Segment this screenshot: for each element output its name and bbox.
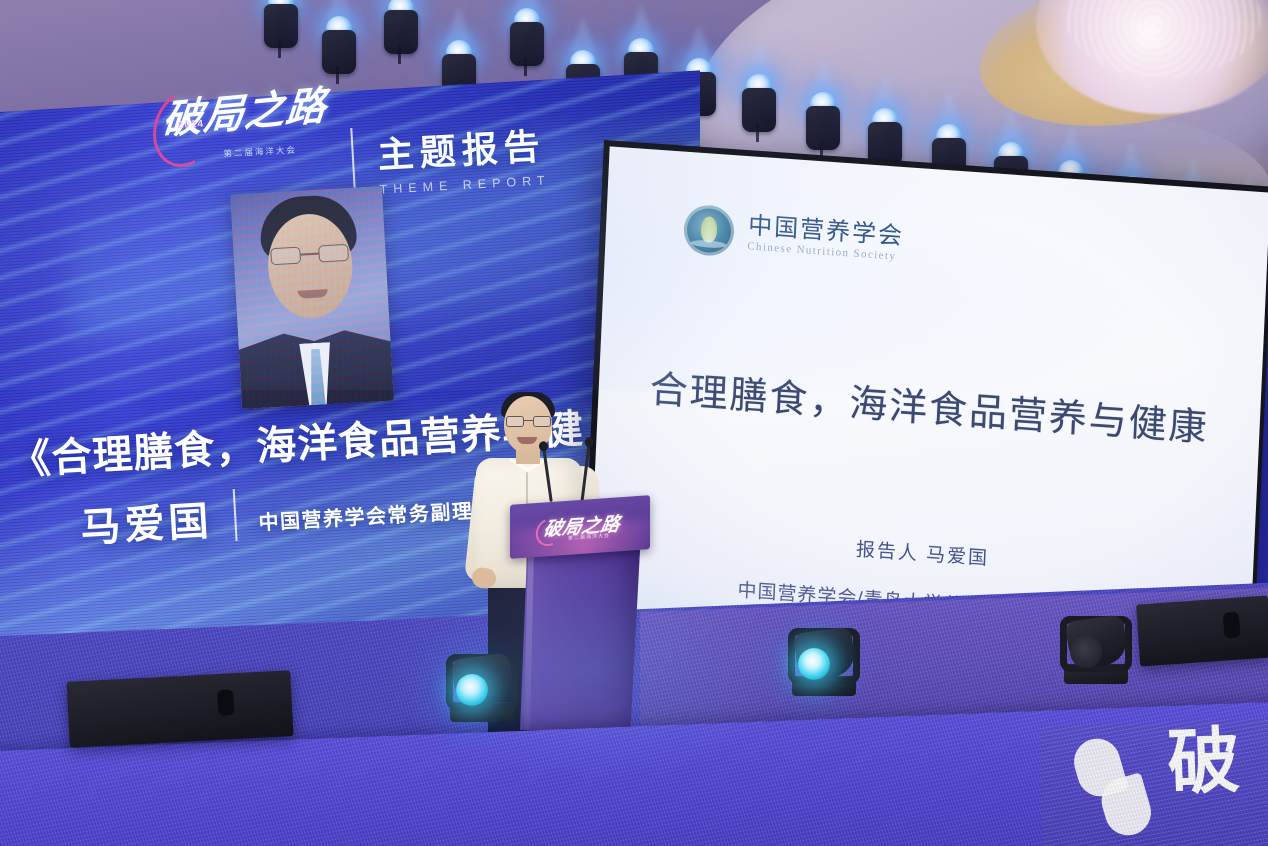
logo-divider [350, 128, 355, 190]
wave-logo-icon [1067, 736, 1163, 839]
moving-head-light [258, 0, 304, 54]
backdrop-speaker-divider [233, 489, 238, 541]
podium-event-logo: 破局之路 第二届海洋大会 [536, 508, 632, 549]
stage-monitor-speaker-left [66, 670, 293, 748]
floor-moving-head-light [444, 638, 520, 722]
nutrition-society-emblem-icon [683, 204, 735, 257]
podium-front-panel: 破局之路 第二届海洋大会 [510, 495, 650, 559]
floor-moving-head-light [786, 612, 862, 696]
moving-head-light [504, 8, 550, 72]
slide-org-name: 中国营养学会 Chinese Nutrition Society [747, 213, 904, 264]
podium-logo-subtitle: 第二届海洋大会 [568, 532, 610, 542]
section-heading: 主题报告 THEME REPORT [376, 117, 551, 196]
event-logo-subtitle: 第二届海洋大会 [223, 144, 297, 160]
floor-moving-head-light [1058, 600, 1134, 684]
speaker-portrait-photo [230, 186, 394, 409]
slide-org-header: 中国营养学会 Chinese Nutrition Society [683, 204, 905, 269]
event-logo-year: 2024 [178, 119, 205, 131]
floor-logo-glyph: 破 [1166, 725, 1241, 800]
moving-head-light [378, 0, 424, 60]
event-logo: 破局之路 2024 第二届海洋大会 [149, 67, 355, 188]
moving-head-light [736, 74, 782, 138]
conference-stage-photo: 破局之路 2024 第二届海洋大会 主题报告 THEME REPORT 《合理膳… [0, 0, 1268, 846]
podium: 破局之路 第二届海洋大会 [510, 500, 650, 730]
event-logo-calligraphy: 破局之路 [160, 73, 329, 146]
slide-title: 合理膳食，海洋食品营养与健康 [598, 354, 1261, 455]
moving-head-light [800, 92, 846, 156]
floor-led-logo-panel: 破 [1038, 718, 1268, 846]
led-moire-artifact [230, 186, 394, 409]
section-heading-cn: 主题报告 [376, 117, 550, 178]
podium-body [520, 550, 640, 730]
stage-monitor-speaker-right [1136, 595, 1268, 666]
backdrop-speaker-name: 马爱国 [79, 488, 214, 553]
